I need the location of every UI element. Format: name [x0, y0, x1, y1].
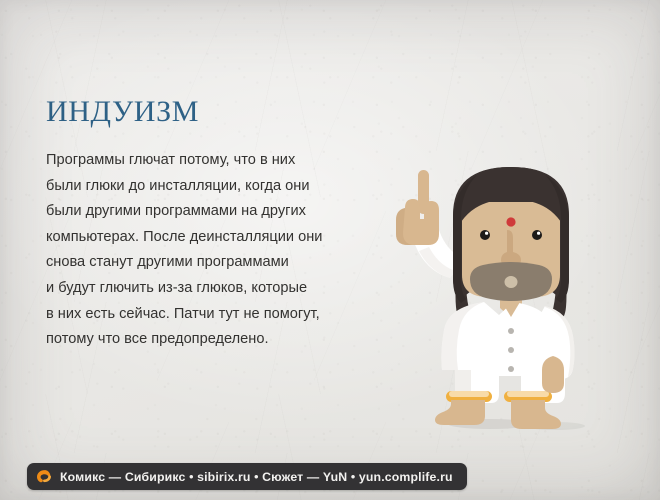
comic-poster: ИНДУИЗМ Программы глючат потому, что в н… [0, 0, 660, 500]
bindi-dot [506, 217, 515, 226]
mouth [505, 276, 518, 288]
hindu-guru-character [380, 160, 640, 470]
body-line: и будут глючить из-за глюков, которые [46, 276, 382, 302]
comic-body-text: Программы глючат потому, что в них были … [46, 148, 382, 353]
raised-hand [396, 170, 439, 245]
kurta [441, 302, 555, 370]
body-line: компьютерах. После деинсталляции они [46, 225, 382, 251]
body-line: снова станут другими программами [46, 250, 382, 276]
body-line: были глюки до инсталляции, когда они [46, 174, 382, 200]
sibirix-swirl-logo-icon [36, 469, 53, 484]
beard [470, 262, 552, 301]
body-line: в них есть сейчас. Патчи тут не помогут, [46, 302, 382, 328]
body-line: были другими программами на других [46, 199, 382, 225]
body-line: потому что все предопределено. [46, 327, 382, 353]
body-line: Программы глючат потому, что в них [46, 148, 382, 174]
right-hand [542, 356, 564, 393]
credit-bar: Комикс — Сибирикс • sibirix.ru • Сюжет —… [27, 463, 467, 490]
page-title: ИНДУИЗМ [46, 95, 199, 129]
credit-text: Комикс — Сибирикс • sibirix.ru • Сюжет —… [60, 470, 453, 484]
